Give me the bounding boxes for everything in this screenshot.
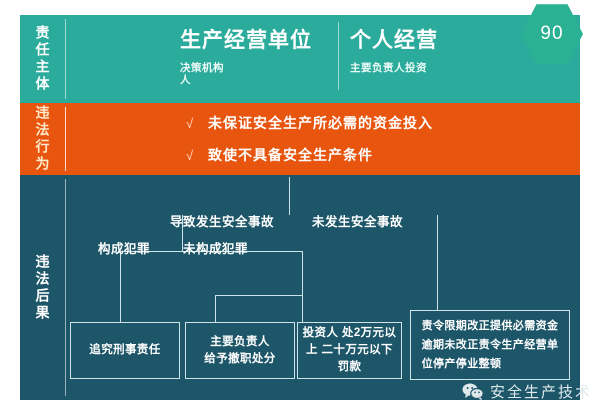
branch-label-no-crime: 未构成犯罪 [183, 238, 248, 257]
illegal-act-item-1: √ 未保证安全生产所必需的资金投入 [186, 113, 433, 133]
outcome-box-dismissal: 主要负责人给予撤职处分 [185, 322, 295, 379]
connector-to-criminal-box [120, 251, 121, 323]
subject-column-divider [338, 22, 339, 90]
branch-label-constitutes-crime: 构成犯罪 [98, 238, 150, 257]
branch-label-accident-occurred: 导致发生安全事故 [170, 211, 274, 230]
check-icon: √ [186, 148, 208, 163]
check-icon: √ [186, 116, 208, 131]
outcome-box-rectification-order: 责令限期改正提供必需资金逾期未改正责令生产经营单位停产停业整顿 [410, 310, 570, 380]
subject-subtitle-individual-operator: 主要负责人投资 [350, 62, 500, 74]
outcome-box-criminal-liability: 追究刑事责任 [70, 322, 180, 379]
rail-divider-act [65, 107, 66, 171]
rail-label-illegal-act: 违法行为 [20, 103, 65, 175]
outcome-box-investor-fine: 投资人 处2万元以上 二十万元以下罚款 [297, 322, 402, 379]
outcome-box-dismissal-text: 主要负责人给予撤职处分 [204, 334, 275, 368]
rail-divider-subject [65, 19, 66, 99]
infographic-canvas: 责任主体 违法行为 违法后果 生产经营单位 决策机构 人 个人经营 主要负责人投… [0, 0, 600, 415]
connector-top-split [289, 177, 290, 215]
subject-subtitle-production-unit: 决策机构 人 [180, 62, 310, 86]
rail-divider-result [65, 179, 66, 396]
outcome-box-criminal-liability-text: 追究刑事责任 [89, 342, 160, 359]
illegal-act-item-1-label: 未保证安全生产所必需的资金投入 [208, 113, 433, 133]
subject-title-production-unit: 生产经营单位 [180, 24, 312, 54]
connector-to-dismiss-box [215, 295, 216, 323]
outcome-box-rectification-order-text: 责令限期改正提供必需资金逾期未改正责令生产经营单位停产停业整顿 [422, 317, 559, 374]
connector-no-accident-stem [437, 215, 438, 310]
connector-no-crime-bar [215, 295, 302, 296]
connector-no-crime-stem [302, 251, 303, 295]
subject-title-individual-operator: 个人经营 [350, 24, 438, 54]
watermark-label: 安全生产技术 [490, 381, 592, 402]
illegal-act-item-2: √ 致使不具备安全生产条件 [186, 145, 373, 165]
rail-label-illegal-consequence: 违法后果 [20, 175, 65, 400]
outcome-box-investor-fine-text: 投资人 处2万元以上 二十万元以下罚款 [303, 325, 397, 376]
branch-label-no-accident: 未发生安全事故 [312, 211, 403, 230]
wechat-icon [462, 383, 484, 400]
rail-label-responsible-subject: 责任主体 [20, 15, 65, 103]
watermark: 安全生产技术 [462, 381, 592, 402]
illegal-act-item-2-label: 致使不具备安全生产条件 [208, 145, 373, 165]
connector-to-fine-box [302, 295, 303, 323]
